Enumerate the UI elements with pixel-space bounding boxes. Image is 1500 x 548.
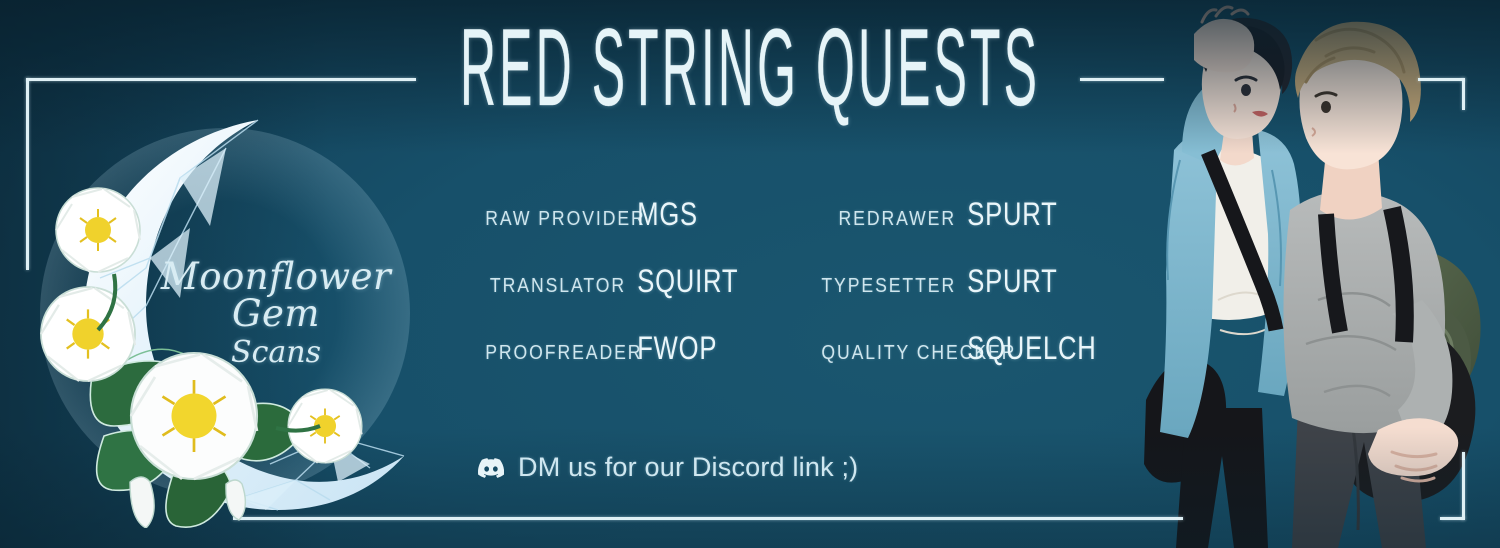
credits-block: RAW PROVIDER MGS REDRAWER SPURT TRANSLAT…: [466, 196, 1086, 367]
discord-invite-row[interactable]: DM us for our Discord link ;): [478, 452, 858, 483]
credit-value-typesetter: SPURT: [956, 263, 1060, 300]
crescent-moon-icon: [30, 108, 430, 528]
credits-page: RED STRING QUESTS: [0, 0, 1500, 548]
frame-bracket-bottom-right-horizontal: [1440, 517, 1465, 520]
credit-label-translator: TRANSLATOR: [485, 275, 626, 298]
credit-value-redrawer: SPURT: [956, 196, 1060, 233]
credit-value-translator: SQUIRT: [626, 263, 750, 300]
frame-rule-title-left: [26, 78, 416, 81]
discord-invite-text: DM us for our Discord link ;): [518, 452, 858, 483]
credit-label-redrawer: REDRAWER: [802, 208, 956, 231]
credits-grid: RAW PROVIDER MGS REDRAWER SPURT TRANSLAT…: [466, 196, 1086, 367]
credit-value-proofreader: FWOP: [626, 330, 750, 367]
frame-bracket-top-right-vertical: [1462, 78, 1465, 110]
scanlation-logo: Moonflower Gem Scans: [30, 108, 430, 528]
credit-value-quality-checker: SQUELCH: [956, 330, 1060, 367]
credit-value-raw-provider: MGS: [626, 196, 750, 233]
discord-icon[interactable]: [478, 455, 504, 481]
frame-bracket-bottom-right-vertical: [1462, 452, 1465, 520]
frame-bracket-top-left-vertical: [26, 78, 29, 270]
credit-label-raw-provider: RAW PROVIDER: [485, 208, 626, 231]
credit-label-quality-checker: QUALITY CHECKER: [802, 342, 956, 365]
credit-label-proofreader: PROOFREADER: [485, 342, 626, 365]
page-title: RED STRING QUESTS: [360, 14, 1140, 123]
credit-label-typesetter: TYPESETTER: [802, 275, 956, 298]
frame-bracket-top-right-horizontal: [1418, 78, 1465, 81]
